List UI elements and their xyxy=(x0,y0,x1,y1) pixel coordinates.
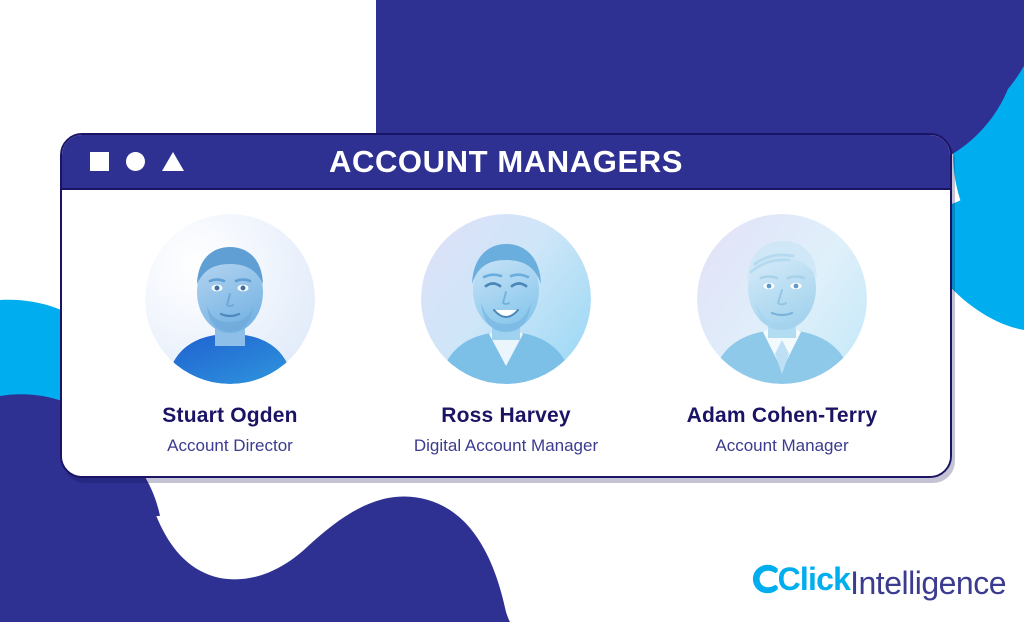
avatar xyxy=(421,214,591,384)
logo-click-wordmark: Click xyxy=(752,561,851,598)
adam-cohen-terry-photo xyxy=(697,214,867,384)
cyan-blob-top-right xyxy=(953,0,1024,300)
person-role: Account Manager xyxy=(715,436,848,456)
page-title: ACCOUNT MANAGERS xyxy=(62,134,950,189)
navy-blob-top-mass xyxy=(593,0,1024,155)
navy-blob-bottom-left-lobe xyxy=(240,504,504,622)
team-list: Stuart Ogden Account Director xyxy=(62,190,950,476)
window-card: ACCOUNT MANAGERS xyxy=(60,133,952,478)
click-c-icon xyxy=(752,564,778,594)
brand-logo: Click Intelligence xyxy=(752,561,1006,603)
ross-harvey-photo xyxy=(421,214,591,384)
list-item: Stuart Ogden Account Director xyxy=(95,214,365,456)
person-role: Digital Account Manager xyxy=(414,436,598,456)
list-item: Ross Harvey Digital Account Manager xyxy=(371,214,641,456)
logo-intelligence-text: Intelligence xyxy=(850,565,1006,602)
avatar xyxy=(697,214,867,384)
person-role: Account Director xyxy=(167,436,293,456)
avatar xyxy=(145,214,315,384)
person-name: Ross Harvey xyxy=(441,404,570,428)
poster-canvas: ACCOUNT MANAGERS xyxy=(0,0,1024,622)
logo-click-text: Click xyxy=(778,561,851,598)
list-item: Adam Cohen-Terry Account Manager xyxy=(647,214,917,456)
person-name: Stuart Ogden xyxy=(162,404,297,428)
stuart-ogden-photo xyxy=(145,214,315,384)
window-titlebar: ACCOUNT MANAGERS xyxy=(62,135,950,190)
person-name: Adam Cohen-Terry xyxy=(687,404,878,428)
